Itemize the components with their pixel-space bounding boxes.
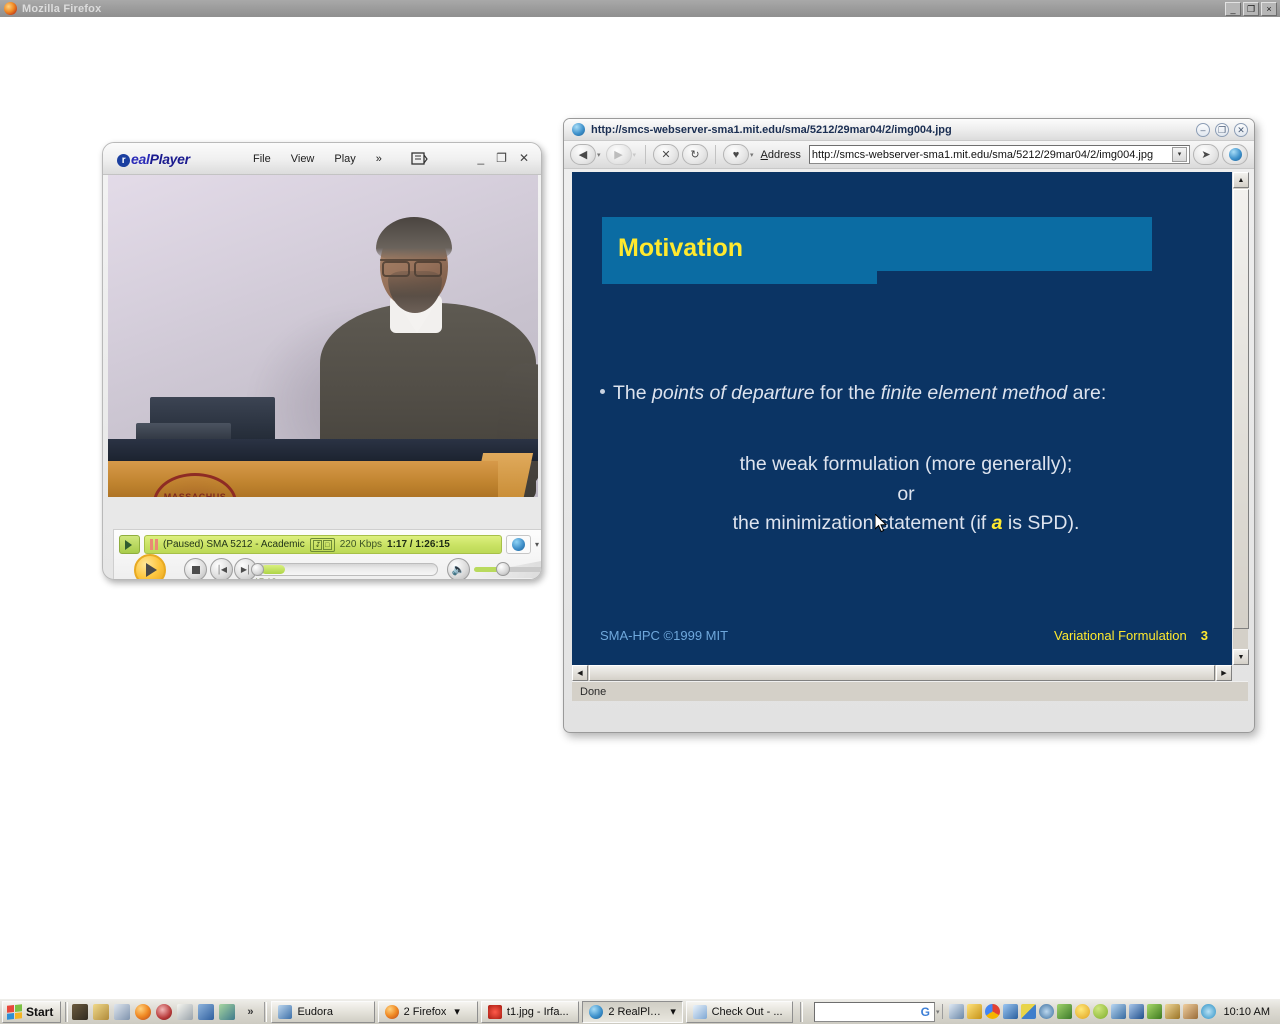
task-button-checkout[interactable]: Check Out - ... <box>686 1001 793 1023</box>
menu-overflow[interactable]: » <box>376 153 382 165</box>
realplayer-tray-icon[interactable] <box>1093 1004 1108 1019</box>
slide-line-3: the minimization statement (if a is SPD)… <box>600 508 1212 538</box>
previous-button[interactable] <box>210 558 233 580</box>
slide-line-1: the weak formulation (more generally); <box>600 449 1212 479</box>
taskbar-divider <box>800 1002 803 1022</box>
realplayer-brand-eal: eal <box>131 151 150 167</box>
task-button-firefox[interactable]: 2 Firefox ▾ <box>378 1001 478 1023</box>
realplayer-logo: realPlayer <box>117 151 190 168</box>
horizontal-scroll-thumb[interactable] <box>589 665 1215 681</box>
time-label: 1:17 / 1:26:15 <box>387 539 450 550</box>
browser-window-controls: – ❐ ✕ <box>1196 123 1248 137</box>
podium-top <box>108 439 538 461</box>
bullet-dot-icon <box>600 389 605 394</box>
start-label: Start <box>26 1005 53 1019</box>
badge-stereo-icon: □ <box>323 540 332 550</box>
minimize-button[interactable]: – <box>1196 123 1210 137</box>
browser-titlebar[interactable]: http://smcs-webserver-sma1.mit.edu/sma/5… <box>564 119 1254 141</box>
quick-launch-overflow-icon[interactable]: » <box>247 1006 253 1018</box>
bullet-text-1: The <box>613 382 652 404</box>
bullet-text-3: are: <box>1067 382 1106 404</box>
scroll-right-button[interactable]: ▶ <box>1216 665 1232 681</box>
slide-body: The points of departure for the finite e… <box>572 172 1232 665</box>
clipboard-icon[interactable] <box>114 1004 130 1020</box>
slide-footer-section: Variational Formulation3 <box>1054 628 1208 643</box>
realplayer-mark: r <box>117 154 130 167</box>
search-toolbar[interactable]: G <box>814 1002 936 1022</box>
clip-title: (Paused) SMA 5212 - Academic <box>163 539 305 550</box>
realplayer-titlebar[interactable]: realPlayer File View Play » _ ❐ ✕ <box>103 143 541 175</box>
task-button-irfanview[interactable]: t1.jpg - Irfa... <box>481 1001 579 1023</box>
realplayer-status-row: (Paused) SMA 5212 - Academic ↧ □ 220 Kbp… <box>119 534 539 555</box>
monitor-icon[interactable] <box>1111 1004 1126 1019</box>
reload-button[interactable]: ↻ <box>682 144 708 165</box>
bullet-emphasis-1: points of departure <box>652 382 815 404</box>
irfanview-icon <box>488 1005 502 1019</box>
browser-window-icon <box>572 123 585 136</box>
badge-download-icon: ↧ <box>313 540 322 550</box>
slide-footer-copyright: SMA-HPC ©1999 MIT <box>600 628 728 643</box>
minimize-button[interactable]: _ <box>1225 2 1241 16</box>
shield-icon[interactable] <box>967 1004 982 1019</box>
bullet-emphasis-2: finite element method <box>881 382 1067 404</box>
realplayer-window: realPlayer File View Play » _ ❐ ✕ <box>102 142 542 580</box>
volume-icon[interactable]: 🔈 <box>447 558 470 580</box>
video-area[interactable]: MASSACHUS (Paused) SMA 5212 - Academic ↧… <box>108 175 538 580</box>
search-chevron-down-icon[interactable]: ▾ <box>936 1008 940 1016</box>
realplayer-transport-row: 17:18 🔈 <box>122 556 540 580</box>
mit-seal-text: MASSACHUS <box>156 492 234 497</box>
bookmarks-chevron-down-icon[interactable]: ▾ <box>750 151 754 159</box>
back-button[interactable]: ◀ <box>570 144 596 165</box>
bookmarks-button[interactable]: ♥ <box>723 144 749 165</box>
task-label: t1.jpg - Irfa... <box>507 1006 569 1018</box>
image-browser-window: http://smcs-webserver-sma1.mit.edu/sma/5… <box>563 118 1255 733</box>
windows-logo-icon <box>7 1004 22 1020</box>
menu-play[interactable]: Play <box>334 153 355 165</box>
stop-button[interactable] <box>184 558 207 580</box>
presentation-slide: Motivation The points of departure for t… <box>572 172 1232 665</box>
network-icon[interactable] <box>949 1004 964 1019</box>
slide-footer-section-label: Variational Formulation <box>1054 628 1187 643</box>
ie-icon <box>693 1005 707 1019</box>
vertical-scroll-thumb[interactable] <box>1233 189 1249 629</box>
firefox-icon[interactable] <box>135 1004 151 1020</box>
slide-line-2: or <box>600 479 1212 509</box>
person-icon[interactable] <box>1183 1004 1198 1019</box>
status-text: Done <box>580 686 606 698</box>
video-frame: MASSACHUS <box>108 175 538 497</box>
slide-line-3-pre: the minimization statement (if <box>733 512 992 534</box>
chevron-down-icon[interactable]: ▾ <box>670 1005 675 1018</box>
plug-icon[interactable] <box>1057 1004 1072 1019</box>
spiral-icon[interactable] <box>1039 1004 1054 1019</box>
firefox-icon <box>4 2 17 15</box>
pencil-folder-icon[interactable] <box>93 1004 109 1020</box>
horizontal-scrollbar[interactable]: ◀ ▶ <box>572 665 1232 681</box>
scroll-down-button[interactable]: ▼ <box>1233 649 1249 665</box>
burn-icon[interactable] <box>156 1004 172 1020</box>
horse-icon[interactable] <box>72 1004 88 1020</box>
mouse-cursor <box>875 514 888 534</box>
clip-info-icon[interactable] <box>119 535 140 554</box>
maximize-button[interactable]: ❐ <box>496 152 507 164</box>
realplayer-window-controls: _ ❐ ✕ <box>477 152 529 164</box>
scroll-up-button[interactable]: ▲ <box>1233 172 1249 188</box>
seek-progress <box>261 565 285 574</box>
slide-line-3-post: is SPD). <box>1002 512 1079 534</box>
firefox-window-title: Mozilla Firefox <box>22 3 101 15</box>
browser-toolbar: ◀ ▾ ▶ ▾ ✕ ↻ ♥ ▾ Address http://smcs-webs… <box>564 141 1254 169</box>
status-display: (Paused) SMA 5212 - Academic ↧ □ 220 Kbp… <box>144 535 502 554</box>
seek-tooltip-time: 17:18 <box>254 577 277 580</box>
maximize-button[interactable]: ❐ <box>1215 123 1229 137</box>
slide-image[interactable]: Motivation The points of departure for t… <box>572 172 1232 665</box>
firefox-titlebar[interactable]: Mozilla Firefox _ ❐ × <box>0 0 1280 17</box>
task-label: Eudora <box>297 1006 332 1018</box>
google-icon: G <box>921 1005 930 1019</box>
smiley-icon[interactable] <box>1075 1004 1090 1019</box>
volume-handle[interactable] <box>496 562 510 576</box>
address-dropdown-icon[interactable]: ▾ <box>1172 147 1187 162</box>
play-button[interactable] <box>134 554 186 580</box>
menu-file[interactable]: File <box>253 153 271 165</box>
browser-window-title: http://smcs-webserver-sma1.mit.edu/sma/5… <box>591 124 952 136</box>
eudora-icon <box>278 1005 292 1019</box>
stop-button[interactable]: ✕ <box>653 144 679 165</box>
firefox-icon <box>385 1005 399 1019</box>
scroll-left-button[interactable]: ◀ <box>572 665 588 681</box>
mail-icon[interactable] <box>177 1004 193 1020</box>
refresh-icon[interactable] <box>1201 1004 1216 1019</box>
paused-indicator-icon <box>150 539 158 550</box>
chrome-icon[interactable] <box>985 1004 1000 1019</box>
skin-toggle-icon[interactable] <box>410 150 429 168</box>
bullet-text-2: for the <box>815 382 881 404</box>
stream-quality-badge: ↧ □ <box>310 538 335 552</box>
toolbar-separator <box>715 145 716 164</box>
colors-icon[interactable] <box>1021 1004 1036 1019</box>
realplayer-menubar: File View Play » <box>253 153 382 165</box>
forward-chevron-down-icon[interactable]: ▾ <box>633 151 637 159</box>
taskbar-divider <box>264 1002 267 1022</box>
go-button[interactable]: ➤ <box>1193 144 1219 165</box>
system-tray: 10:10 AM <box>942 1004 1280 1019</box>
minimize-button[interactable]: _ <box>477 152 484 164</box>
desktop: Mozilla Firefox _ ❐ × realPlayer File Vi… <box>0 0 1280 1024</box>
blue-icon[interactable] <box>1003 1004 1018 1019</box>
security-icon[interactable] <box>1129 1004 1144 1019</box>
quick-launch-bar: » <box>72 1004 260 1020</box>
task-label: 2 RealPla... <box>608 1006 662 1018</box>
address-input[interactable]: http://smcs-webserver-sma1.mit.edu/sma/5… <box>812 149 1172 161</box>
globe-icon <box>512 538 525 551</box>
slide-page-number: 3 <box>1201 628 1208 643</box>
photo-icon[interactable] <box>219 1004 235 1020</box>
slide-variable-a: a <box>992 512 1003 534</box>
realplayer-icon <box>589 1005 603 1019</box>
realplayer-logo-icon[interactable] <box>1222 144 1248 165</box>
vertical-scrollbar[interactable]: ▲ ▼ <box>1232 172 1248 665</box>
close-button[interactable]: ✕ <box>519 152 529 164</box>
browser-content-area: Motivation The points of departure for t… <box>572 172 1248 733</box>
play-icon <box>134 554 166 580</box>
leaf-icon[interactable] <box>1147 1004 1162 1019</box>
start-button[interactable]: Start <box>2 1001 61 1023</box>
seek-tooltip: 17:18 <box>254 577 286 580</box>
camera-icon[interactable] <box>1165 1004 1180 1019</box>
realplayer-brand-player: Player <box>150 151 190 167</box>
seek-handle[interactable] <box>251 563 264 576</box>
realplayer-control-panel: (Paused) SMA 5212 - Academic ↧ □ 220 Kbp… <box>113 529 542 580</box>
chevron-down-icon[interactable]: ▾ <box>535 540 539 549</box>
menu-view[interactable]: View <box>291 153 315 165</box>
close-button[interactable]: × <box>1261 2 1277 16</box>
go-online-button[interactable] <box>506 535 531 554</box>
close-button[interactable]: ✕ <box>1234 123 1248 137</box>
address-bar[interactable]: http://smcs-webserver-sma1.mit.edu/sma/5… <box>809 145 1190 164</box>
toolbar-separator <box>645 145 646 164</box>
firefox-window-controls: _ ❐ × <box>1225 2 1277 16</box>
bitrate-label: 220 Kbps <box>340 539 382 550</box>
address-label: Address <box>761 149 801 161</box>
clock[interactable]: 10:10 AM <box>1224 1006 1270 1018</box>
back-chevron-down-icon[interactable]: ▾ <box>597 151 601 159</box>
slide-bullet: The points of departure for the finite e… <box>600 378 1160 408</box>
forward-button[interactable]: ▶ <box>606 144 632 165</box>
seek-slider[interactable] <box>252 563 438 576</box>
task-button-realplayer[interactable]: 2 RealPla... ▾ <box>582 1001 682 1023</box>
task-label: 2 Firefox <box>404 1006 447 1018</box>
taskbar: Start » Eudora 2 Firefox ▾ <box>0 998 1280 1024</box>
window-icon[interactable] <box>198 1004 214 1020</box>
taskbar-divider <box>65 1002 68 1022</box>
task-button-eudora[interactable]: Eudora <box>271 1001 374 1023</box>
restore-button[interactable]: ❐ <box>1243 2 1259 16</box>
chevron-down-icon[interactable]: ▾ <box>454 1005 460 1018</box>
task-buttons: Eudora 2 Firefox ▾ t1.jpg - Irfa... 2 Re… <box>271 1001 941 1023</box>
task-label: Check Out - ... <box>712 1006 783 1018</box>
browser-statusbar: Done <box>572 681 1248 701</box>
